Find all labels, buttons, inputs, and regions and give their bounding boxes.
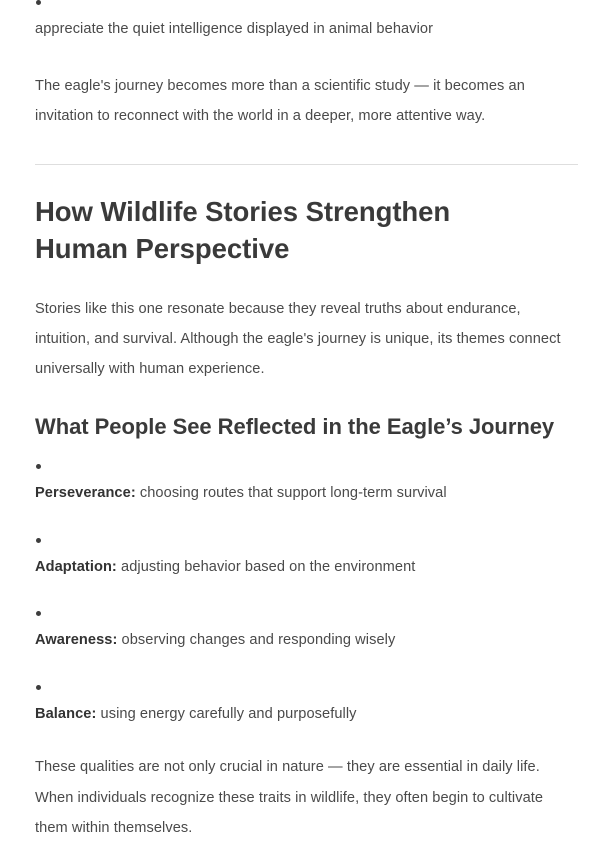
subsection-heading: What People See Reflected in the Eagle’s… <box>35 413 578 442</box>
section-divider <box>35 164 578 165</box>
list-item: Balance: using energy carefully and purp… <box>35 685 578 727</box>
traits-bullet-list: Perseverance: choosing routes that suppo… <box>35 464 578 727</box>
list-item-text: Awareness: observing changes and respond… <box>35 629 578 653</box>
list-item-detail: choosing routes that support long-term s… <box>136 485 447 501</box>
list-item-detail: adjusting behavior based on the environm… <box>117 559 416 575</box>
list-item-text: Adaptation: adjusting behavior based on … <box>35 556 578 580</box>
bullet-icon <box>36 0 41 5</box>
list-item: appreciate the quiet intelligence displa… <box>35 0 578 42</box>
list-item-text: Balance: using energy carefully and purp… <box>35 703 578 727</box>
closing-paragraph: These qualities are not only crucial in … <box>35 752 578 842</box>
list-item: Perseverance: choosing routes that suppo… <box>35 464 578 506</box>
list-item-text: appreciate the quiet intelligence displa… <box>35 18 578 42</box>
list-item-text: Perseverance: choosing routes that suppo… <box>35 482 578 506</box>
list-item: Awareness: observing changes and respond… <box>35 611 578 653</box>
list-item: Adaptation: adjusting behavior based on … <box>35 538 578 580</box>
list-item-detail: observing changes and responding wisely <box>117 632 395 648</box>
section-heading: How Wildlife Stories Strengthen Human Pe… <box>35 193 515 268</box>
article-body: appreciate the quiet intelligence displa… <box>0 0 608 843</box>
list-item-lead: Perseverance: <box>35 485 136 501</box>
list-item-lead: Adaptation: <box>35 559 117 575</box>
section-paragraph: Stories like this one resonate because t… <box>35 294 578 384</box>
top-bullet-list: appreciate the quiet intelligence displa… <box>35 0 578 42</box>
bullet-icon <box>36 538 41 543</box>
bullet-icon <box>36 464 41 469</box>
bullet-icon <box>36 611 41 616</box>
list-item-lead: Balance: <box>35 706 96 722</box>
list-item-detail: using energy carefully and purposefully <box>96 706 356 722</box>
intro-paragraph: The eagle's journey becomes more than a … <box>35 71 578 131</box>
list-item-lead: Awareness: <box>35 632 117 648</box>
bullet-icon <box>36 685 41 690</box>
